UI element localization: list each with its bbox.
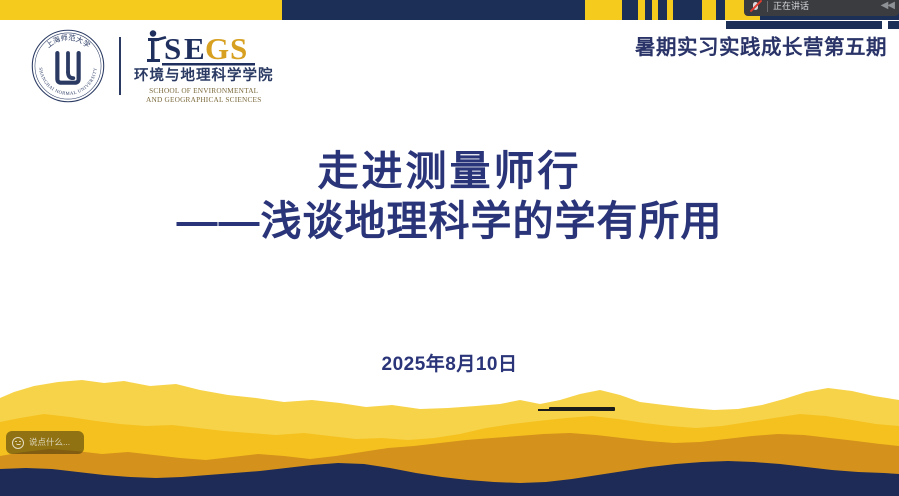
svg-text:E: E	[184, 31, 204, 66]
microphone-muted-icon[interactable]	[749, 0, 762, 13]
branding-logo-row: 上海师范大学 SHANGHAI NORMAL UNIVERSITY S E G …	[30, 28, 274, 104]
svg-text:上海师范大学: 上海师范大学	[44, 33, 92, 50]
stripe-navy-6	[716, 0, 725, 20]
college-name-en: SCHOOL OF ENVIRONMENTAL AND GEOGRAPHICAL…	[146, 86, 261, 104]
stripe-navy-4	[658, 0, 667, 20]
shanghai-normal-university-seal-icon: 上海师范大学 SHANGHAI NORMAL UNIVERSITY	[30, 28, 106, 104]
camp-series-label: 暑期实习实践成长营第五期	[635, 30, 887, 60]
logo-divider	[119, 37, 121, 95]
slide-title-line-1: 走进测量师行	[0, 146, 899, 196]
stripe-lower-block-2	[888, 20, 899, 29]
stripe-lower-block-1	[726, 20, 882, 29]
stripe-navy-2	[622, 0, 638, 20]
smiley-face-icon[interactable]	[12, 437, 24, 449]
presentation-slide-viewport: 正在讲话 ◀◀ 上海师范大学 SHANGHAI NORMAL UNIVERSIT…	[0, 0, 899, 496]
collapse-chevrons-icon[interactable]: ◀◀	[881, 1, 894, 11]
svg-text:G: G	[205, 31, 229, 66]
college-logo-block: S E G S 环境与地理科学学院 SCHOOL OF ENVIRONMENTA…	[134, 28, 274, 104]
college-name-en-line1: SCHOOL OF ENVIRONMENTAL	[146, 86, 261, 95]
college-name-en-line2: AND GEOGRAPHICAL SCIENCES	[146, 95, 261, 104]
stripe-navy-1	[282, 0, 585, 20]
stripe-band-underline	[0, 20, 899, 21]
hidden-toolbar-sliver[interactable]	[549, 407, 615, 411]
slide-date: 2025年8月10日	[0, 349, 899, 376]
stripe-navy-3	[645, 0, 652, 20]
speaking-status-label: 正在讲话	[773, 2, 809, 11]
overlay-divider	[767, 1, 768, 12]
hidden-toolbar-sliver-edge[interactable]	[538, 409, 550, 411]
slide-title-line-2: ——浅谈地理科学的学有所用	[0, 196, 899, 246]
chat-message-input[interactable]: 说点什么...	[6, 431, 84, 454]
chat-input-placeholder: 说点什么...	[29, 438, 70, 447]
isegs-wordmark-icon: S E G S	[138, 28, 269, 68]
speaking-status-overlay[interactable]: 正在讲话 ◀◀	[744, 0, 899, 16]
college-name-cn: 环境与地理科学学院	[134, 69, 274, 84]
stripe-navy-5	[673, 0, 702, 20]
svg-text:S: S	[164, 31, 180, 66]
hills-illustration	[0, 376, 899, 496]
slide-title-block: 走进测量师行 ——浅谈地理科学的学有所用	[0, 146, 899, 246]
svg-text:S: S	[230, 31, 246, 66]
